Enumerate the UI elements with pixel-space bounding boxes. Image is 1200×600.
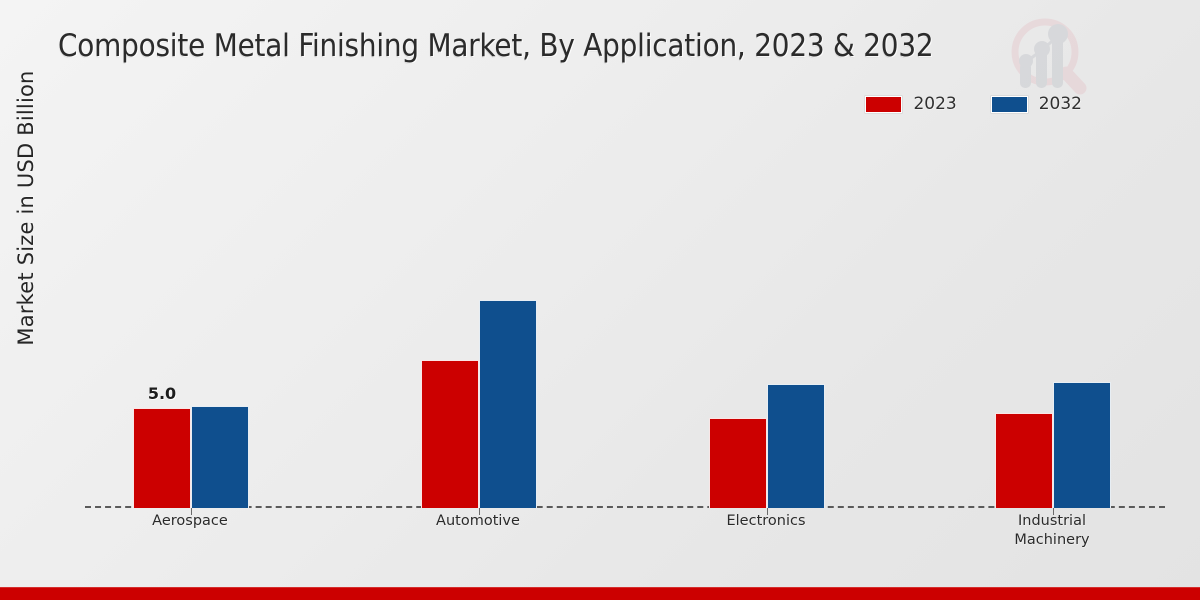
- x-label-automotive: Automotive: [383, 512, 573, 531]
- legend-item-2032[interactable]: 2032: [991, 94, 1082, 114]
- bar-aerospace-2023[interactable]: 5.0: [133, 408, 191, 508]
- x-label-aerospace: Aerospace: [95, 512, 285, 531]
- legend-item-2023[interactable]: 2023: [865, 94, 956, 114]
- bar-group-industrial-machinery: [995, 382, 1111, 508]
- bar-industrial-machinery-2032[interactable]: [1053, 382, 1111, 508]
- x-label-electronics: Electronics: [671, 512, 861, 531]
- chart-title: Composite Metal Finishing Market, By App…: [58, 28, 933, 64]
- bar-automotive-2023[interactable]: [421, 360, 479, 508]
- chart-figure: Composite Metal Finishing Market, By App…: [0, 0, 1200, 600]
- bar-group-electronics: [709, 384, 825, 508]
- bar-electronics-2023[interactable]: [709, 418, 767, 508]
- legend-label-2032: 2032: [1039, 94, 1082, 114]
- footer-accent-bar: [0, 587, 1200, 600]
- x-label-industrial-machinery: Industrial Machinery: [957, 512, 1147, 550]
- legend-swatch-2032: [991, 96, 1028, 113]
- bar-group-aerospace: 5.0: [133, 406, 249, 508]
- bar-value-aerospace-2023: 5.0: [148, 384, 176, 403]
- y-axis-title: Market Size in USD Billion: [14, 38, 38, 378]
- bar-industrial-machinery-2023[interactable]: [995, 413, 1053, 508]
- chart-legend: 2023 2032: [865, 94, 1082, 114]
- watermark-logo-icon: [1008, 8, 1088, 100]
- bar-group-automotive: [421, 300, 537, 508]
- bar-aerospace-2032[interactable]: [191, 406, 249, 508]
- plot-area: 5.0: [85, 140, 1165, 508]
- bar-electronics-2032[interactable]: [767, 384, 825, 508]
- legend-swatch-2023: [865, 96, 902, 113]
- bar-automotive-2032[interactable]: [479, 300, 537, 508]
- legend-label-2023: 2023: [913, 94, 956, 114]
